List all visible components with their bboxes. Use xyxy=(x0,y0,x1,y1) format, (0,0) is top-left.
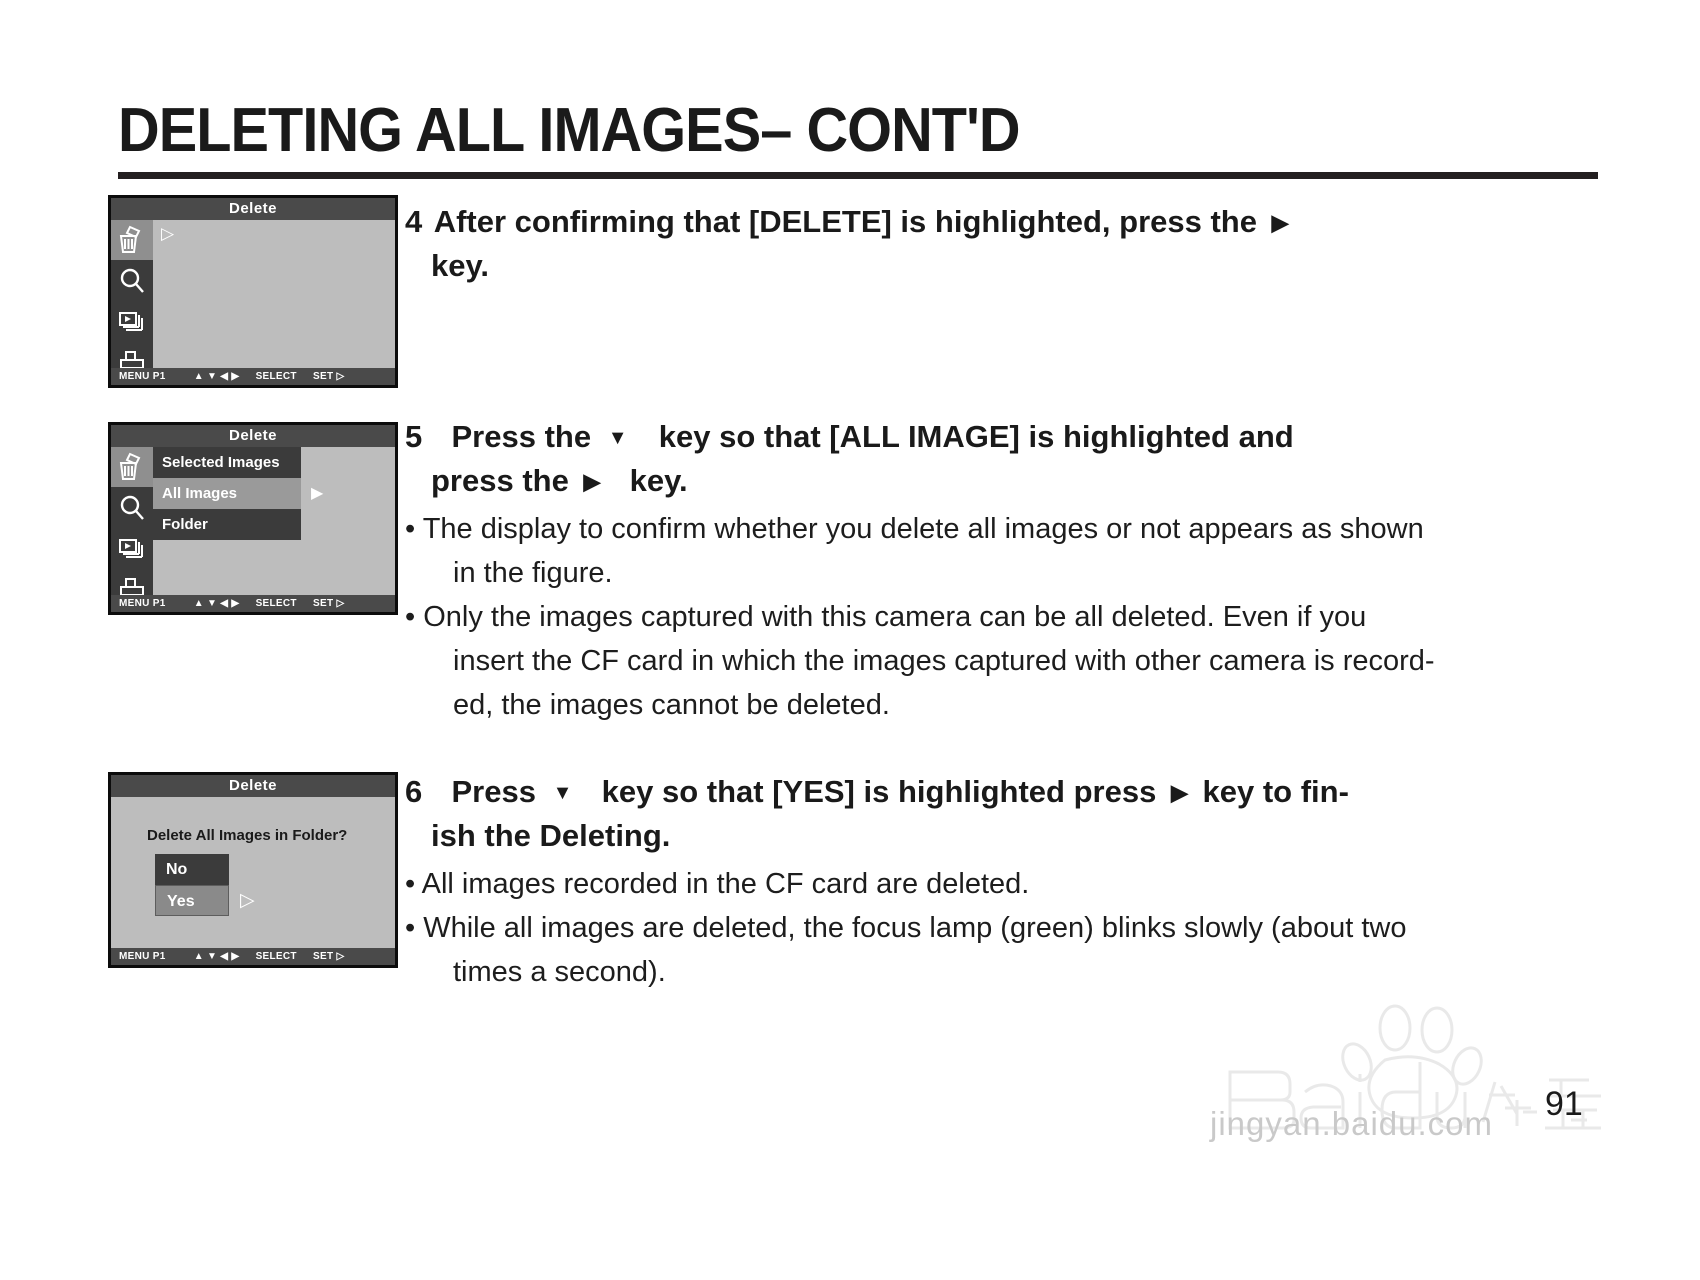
page-header: DELETING ALL IMAGES– CONT'D xyxy=(118,100,1598,179)
lcd-screen-delete-menu: Delete xyxy=(108,422,398,615)
step-4-text-line2: key. xyxy=(431,244,489,288)
menu-column: ▷ xyxy=(153,220,395,388)
step-4: 4 After confirming that [DELETE] is high… xyxy=(405,200,1595,288)
lcd-title: Delete xyxy=(111,775,395,797)
bullet-text: The display to confirm whether you delet… xyxy=(423,513,1424,545)
confirm-no-button[interactable]: No xyxy=(155,854,229,885)
step-6-text-line2: ish the Deleting. xyxy=(431,814,670,858)
status-menu: MENU P1 xyxy=(119,598,166,609)
step-5: 5 Press the ▼ key so that [ALL IMAGE] is… xyxy=(405,415,1595,727)
status-arrows: ▲ ▼ ◀ ▶ xyxy=(194,371,240,382)
page-number: 91 xyxy=(1545,1085,1583,1124)
icon-column xyxy=(111,220,153,388)
step-6: 6 Press ▼ key so that [YES] is highlight… xyxy=(405,770,1595,994)
bullet-marker: • xyxy=(405,513,415,545)
status-menu: MENU P1 xyxy=(119,371,166,382)
step-5-number: 5 xyxy=(405,419,422,454)
lcd-status-bar: MENU P1 ▲ ▼ ◀ ▶ SELECT SET ▷ xyxy=(111,948,395,965)
bullet-marker: • xyxy=(405,868,415,900)
step-5-text-b: key so that [ALL IMAGE] is highlighted a… xyxy=(659,419,1294,454)
status-select: SELECT xyxy=(256,371,297,382)
bullet-text-cont: times a second). xyxy=(423,950,1595,994)
bullet-item: • While all images are deleted, the focu… xyxy=(405,906,1595,994)
bullet-item: • Only the images captured with this cam… xyxy=(405,595,1595,727)
icon-column xyxy=(111,447,153,615)
bullet-text: Only the images captured with this camer… xyxy=(423,601,1366,633)
bullet-marker: • xyxy=(405,601,415,633)
step-6-text-a: Press xyxy=(452,774,536,809)
page-title: DELETING ALL IMAGES– CONT'D xyxy=(118,100,1494,162)
step-4-number: 4 xyxy=(405,204,422,239)
title-divider xyxy=(118,172,1598,179)
cursor-arrow-icon: ▷ xyxy=(161,224,174,244)
menu-item-folder[interactable]: Folder xyxy=(153,509,301,540)
right-arrow-icon: ▶ xyxy=(577,466,606,497)
status-set: SET xyxy=(313,371,333,382)
bullet-item: • All images recorded in the CF card are… xyxy=(405,862,1595,906)
trash-icon[interactable] xyxy=(111,220,153,261)
menu-item-all-images[interactable]: All Images xyxy=(153,478,301,509)
status-arrows: ▲ ▼ ◀ ▶ xyxy=(194,598,240,609)
bullet-text-cont: insert the CF card in which the images c… xyxy=(423,639,1595,683)
magnifier-icon[interactable] xyxy=(111,261,153,302)
lcd-screen-delete-confirm: Delete Delete All Images in Folder? No Y… xyxy=(108,772,398,968)
step-4-heading: 4 After confirming that [DELETE] is high… xyxy=(405,200,1595,288)
step-6-text-b: key so that [YES] is highlighted press xyxy=(602,774,1157,809)
lcd-title: Delete xyxy=(111,425,395,447)
step-5-bullets: • The display to confirm whether you del… xyxy=(405,507,1595,727)
step-6-heading: 6 Press ▼ key so that [YES] is highlight… xyxy=(405,770,1595,858)
status-arrows: ▲ ▼ ◀ ▶ xyxy=(194,951,240,962)
menu-column: Selected Images All Images ▶ Folder xyxy=(153,447,395,615)
magnifier-icon[interactable] xyxy=(111,488,153,529)
lcd-status-bar: MENU P1 ▲ ▼ ◀ ▶ SELECT SET ▷ xyxy=(111,368,395,385)
step-4-text: After confirming that [DELETE] is highli… xyxy=(434,204,1257,239)
down-arrow-icon: ▼ xyxy=(545,779,581,807)
cursor-arrow-icon: ▷ xyxy=(240,885,255,916)
confirm-question: Delete All Images in Folder? xyxy=(147,827,347,844)
bullet-item: • The display to confirm whether you del… xyxy=(405,507,1595,595)
slideshow-icon[interactable] xyxy=(111,529,153,570)
status-select: SELECT xyxy=(256,951,297,962)
step-5-heading: 5 Press the ▼ key so that [ALL IMAGE] is… xyxy=(405,415,1595,503)
step-6-bullets: • All images recorded in the CF card are… xyxy=(405,862,1595,994)
menu-arrow-icon: ▶ xyxy=(311,478,323,509)
slideshow-icon[interactable] xyxy=(111,302,153,343)
down-arrow-icon: ▼ xyxy=(600,424,636,452)
trash-icon[interactable] xyxy=(111,447,153,488)
confirm-yes-button[interactable]: Yes xyxy=(155,885,229,916)
bullet-text-cont: ed, the images cannot be deleted. xyxy=(423,683,1595,727)
bullet-text: While all images are deleted, the focus … xyxy=(423,912,1406,944)
right-arrow-icon: ▶ xyxy=(1165,777,1194,808)
bullet-text: All images recorded in the CF card are d… xyxy=(422,868,1030,900)
status-set: SET xyxy=(313,951,333,962)
bullet-marker: • xyxy=(405,912,415,944)
status-set-arrow: ▷ xyxy=(336,951,344,962)
status-set-arrow: ▷ xyxy=(336,598,344,609)
step-5-text-line2-b: key. xyxy=(630,463,688,498)
right-arrow-icon: ▶ xyxy=(1266,207,1295,238)
lcd-screen-delete-empty: Delete xyxy=(108,195,398,388)
status-menu: MENU P1 xyxy=(119,951,166,962)
step-5-text-a: Press the xyxy=(452,419,592,454)
lcd-title: Delete xyxy=(111,198,395,220)
step-6-number: 6 xyxy=(405,774,422,809)
watermark-url: jingyan.baidu.com xyxy=(1210,1105,1493,1143)
status-select: SELECT xyxy=(256,598,297,609)
status-set-arrow: ▷ xyxy=(336,371,344,382)
status-set: SET xyxy=(313,598,333,609)
menu-item-selected-images[interactable]: Selected Images xyxy=(153,447,301,478)
step-6-text-c: key to fin- xyxy=(1202,774,1348,809)
step-5-text-line2-a: press the xyxy=(431,459,569,503)
bullet-text-cont: in the figure. xyxy=(423,551,1595,595)
lcd-status-bar: MENU P1 ▲ ▼ ◀ ▶ SELECT SET ▷ xyxy=(111,595,395,612)
